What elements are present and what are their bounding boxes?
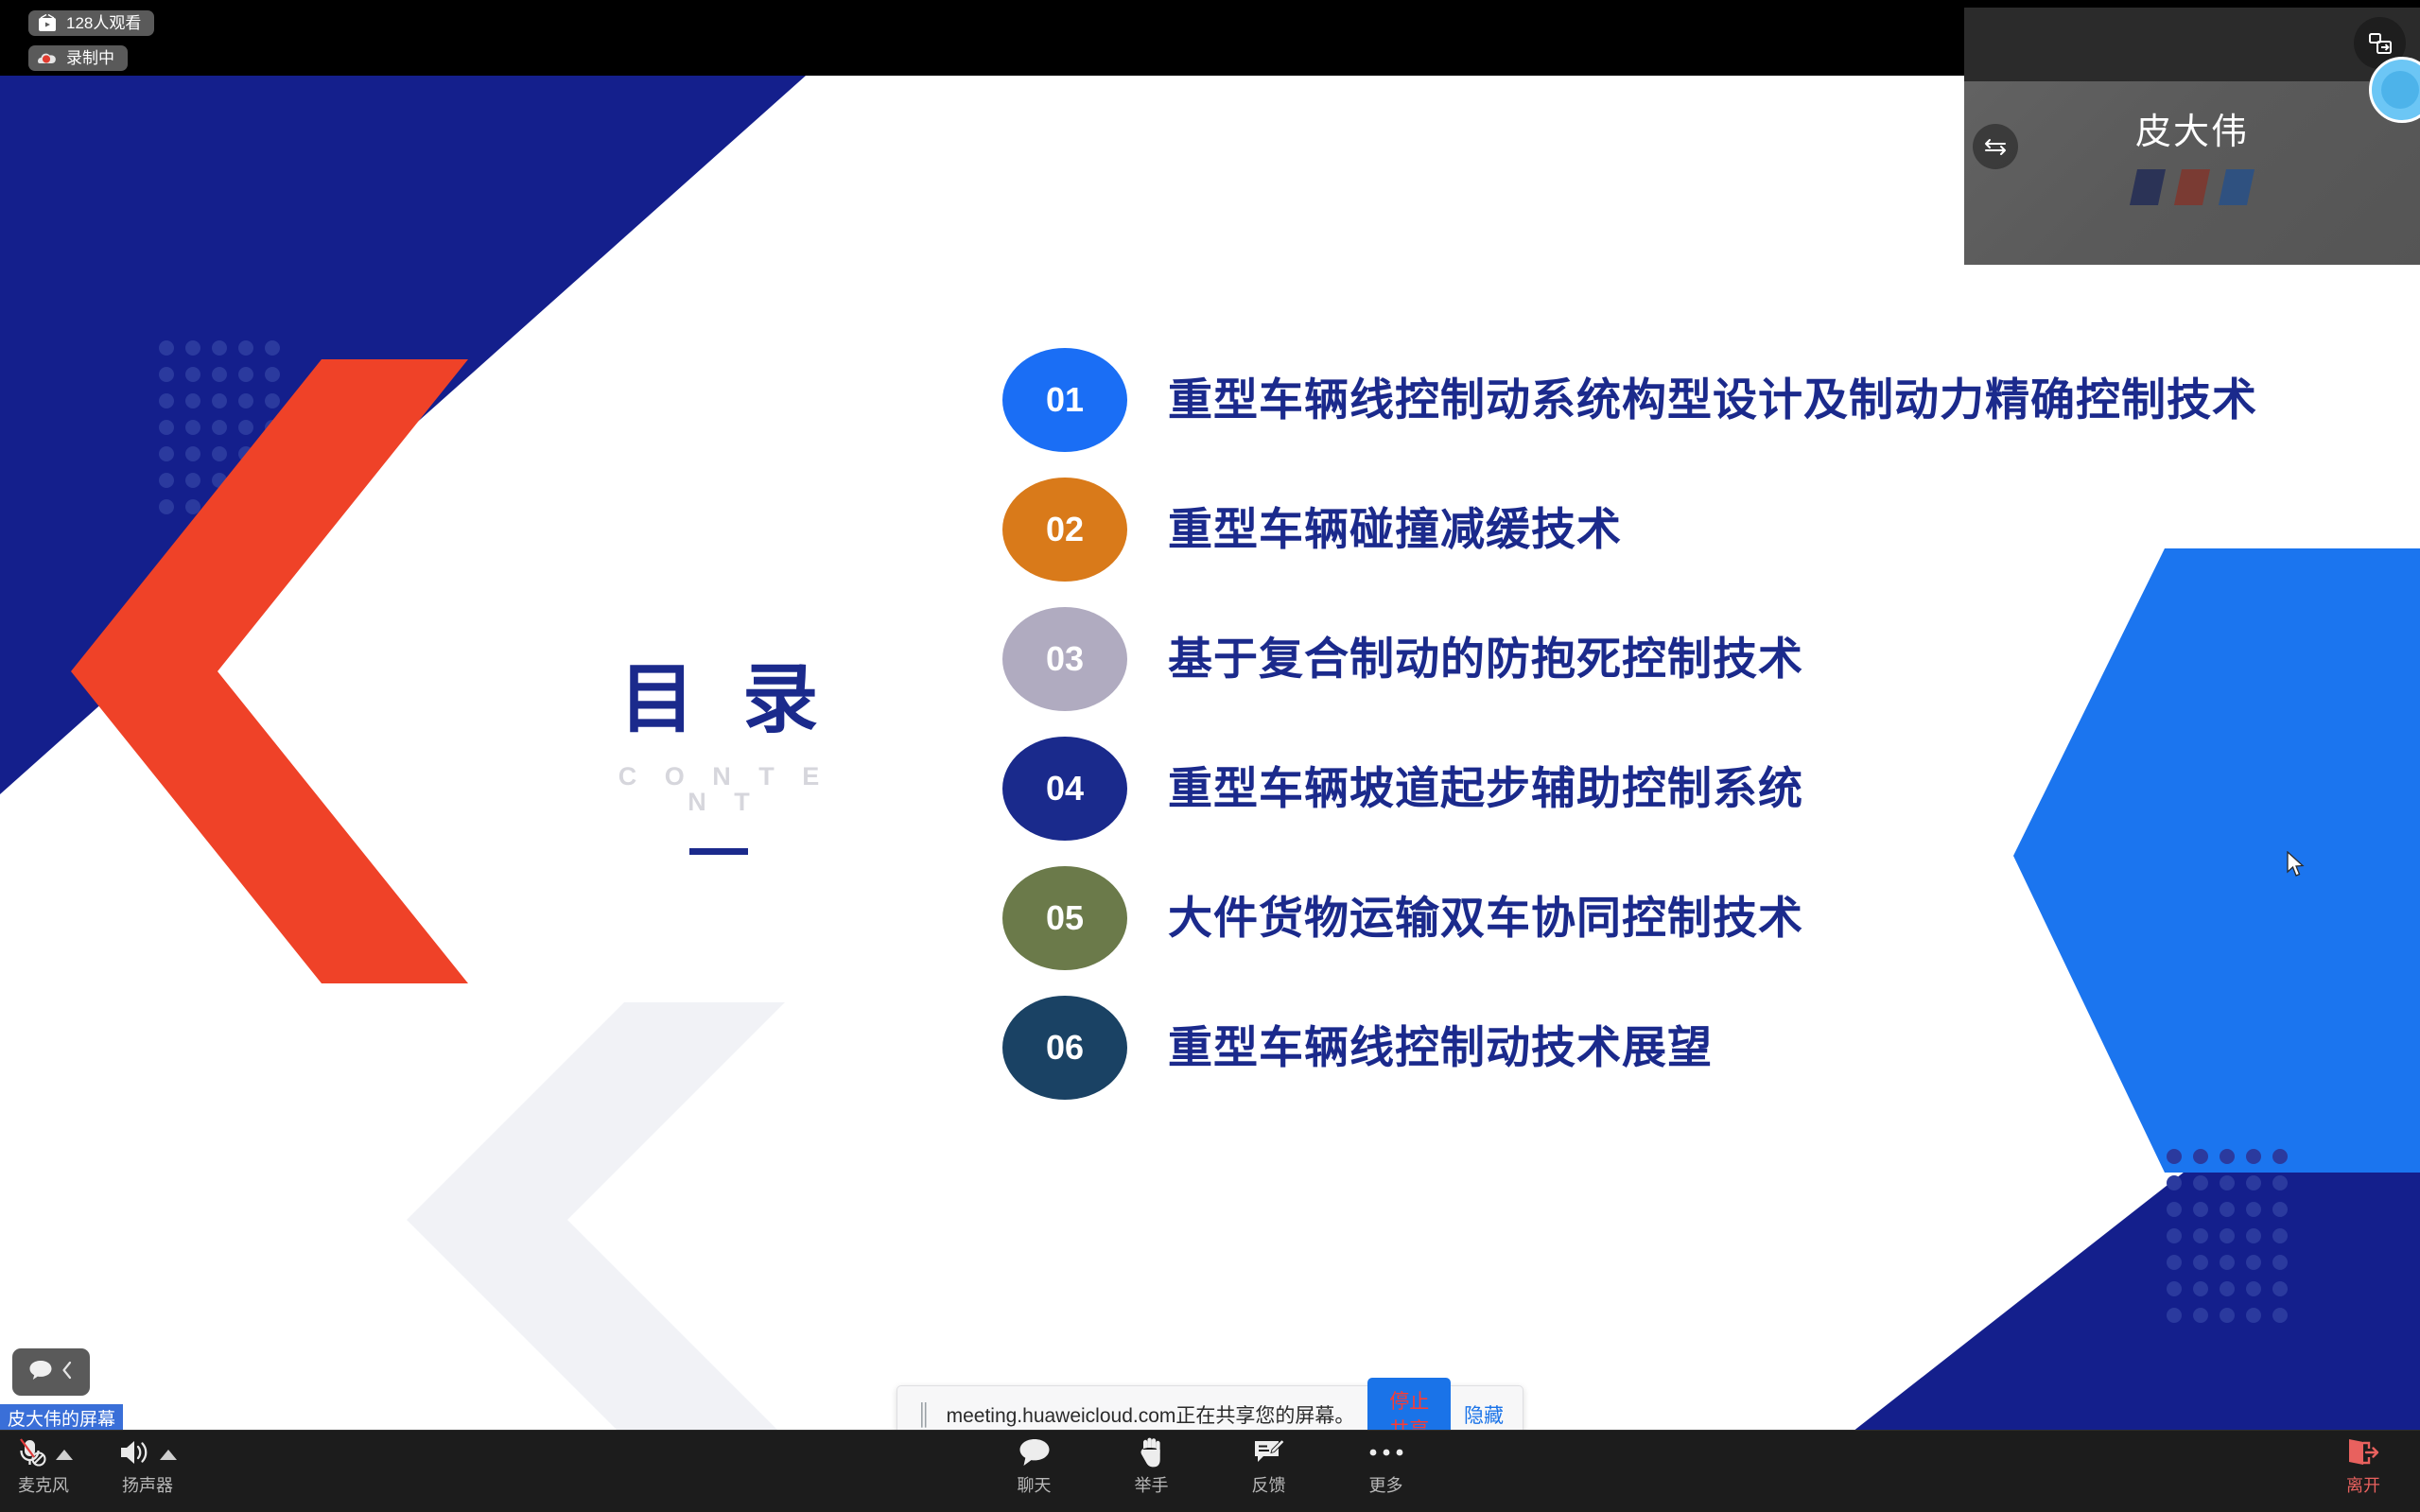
agenda-label: 重型车辆坡道起步辅助控制系统 [1168, 763, 1803, 814]
agenda-number-badge: 01 [1002, 348, 1127, 452]
agenda-item: 02 重型车辆碰撞减缓技术 [1002, 478, 2270, 582]
viewer-count-label: 128人观看 [66, 15, 141, 31]
stop-sharing-button[interactable]: 停止共享 [1367, 1378, 1451, 1432]
shared-screen-tab[interactable]: 皮大伟的屏幕 [0, 1404, 123, 1431]
agenda-label: 基于复合制动的防抱死控制技术 [1168, 634, 1803, 685]
raise-hand-button[interactable]: 举手 [1122, 1434, 1182, 1494]
toolbar-right-group: 离开 [2333, 1434, 2394, 1494]
feedback-button[interactable]: 反馈 [1239, 1434, 1299, 1494]
slide-title-cn: 目 录 [600, 662, 851, 738]
chevron-up-icon[interactable] [56, 1450, 73, 1460]
more-label: 更多 [1369, 1477, 1403, 1494]
chat-label: 聊天 [1018, 1477, 1052, 1494]
title-underline [689, 848, 748, 855]
speaker-button[interactable]: 扬声器 [117, 1434, 178, 1494]
hide-notification-link[interactable]: 隐藏 [1464, 1400, 1504, 1429]
exit-door-icon [2345, 1436, 2381, 1473]
watermark-chevron-shape [407, 1002, 898, 1432]
participant-name: 皮大伟 [1964, 102, 2420, 154]
slide-title-en: C O N T E N T [597, 764, 851, 815]
screen-share-notification: ║ meeting.huaweicloud.com正在共享您的屏幕。 停止共享 … [897, 1385, 1523, 1432]
video-tile-body: 皮大伟 [1964, 81, 2420, 265]
leave-button[interactable]: 离开 [2333, 1434, 2394, 1494]
pause-icon: ║ [916, 1404, 933, 1425]
meeting-toolbar: 麦克风 扬声器 [0, 1430, 2420, 1512]
agenda-number-badge: 03 [1002, 607, 1127, 711]
agenda-number-badge: 02 [1002, 478, 1127, 582]
agenda-item: 03 基于复合制动的防抱死控制技术 [1002, 607, 2270, 711]
agenda-label: 重型车辆碰撞减缓技术 [1168, 504, 1622, 555]
shared-screen-tab-label: 皮大伟的屏幕 [8, 1405, 115, 1431]
record-dot-icon [37, 49, 58, 68]
more-button[interactable]: 更多 [1356, 1434, 1417, 1494]
speaker-icon [118, 1437, 152, 1472]
toolbar-left-group: 麦克风 扬声器 [13, 1434, 178, 1494]
chat-bubble-icon [28, 1359, 54, 1386]
speaker-label: 扬声器 [122, 1477, 173, 1494]
shared-screen-stage: 目 录 C O N T E N T 01 重型车辆线控制动系统构型设计及制动力精… [0, 76, 2420, 1432]
feedback-icon [1252, 1437, 1286, 1472]
ellipsis-icon [1368, 1446, 1404, 1464]
agenda-number-badge: 06 [1002, 996, 1127, 1100]
presentation-slide: 目 录 C O N T E N T 01 重型车辆线控制动系统构型设计及制动力精… [0, 76, 2420, 1432]
dot-grid-bottomright [2167, 1149, 2288, 1323]
share-message: meeting.huaweicloud.com正在共享您的屏幕。 [947, 1400, 1355, 1429]
agenda-number: 02 [1046, 510, 1084, 549]
slide-title-block: 目 录 C O N T E N T [586, 662, 851, 855]
leave-label: 离开 [2346, 1477, 2380, 1494]
agenda-number-badge: 04 [1002, 737, 1127, 841]
agenda-item: 01 重型车辆线控制动系统构型设计及制动力精确控制技术 [1002, 348, 2270, 452]
video-tile-header [1964, 8, 2420, 81]
agenda-label: 大件货物运输双车协同控制技术 [1168, 893, 1803, 944]
agenda-list: 01 重型车辆线控制动系统构型设计及制动力精确控制技术 02 重型车辆碰撞减缓技… [1002, 348, 2270, 1125]
feedback-label: 反馈 [1252, 1477, 1286, 1494]
raise-hand-label: 举手 [1135, 1477, 1169, 1494]
agenda-number: 04 [1046, 769, 1084, 808]
tv-icon [37, 14, 58, 33]
toolbar-center-group: 聊天 举手 [1004, 1434, 1417, 1494]
agenda-item: 06 重型车辆线控制动技术展望 [1002, 996, 2270, 1100]
raised-hand-icon [1136, 1435, 1168, 1474]
agenda-number: 06 [1046, 1028, 1084, 1068]
agenda-item: 05 大件货物运输双车协同控制技术 [1002, 866, 2270, 970]
status-badge-group: 128人观看 录制中 [28, 10, 154, 71]
agenda-number: 05 [1046, 898, 1084, 938]
agenda-number-badge: 05 [1002, 866, 1127, 970]
chat-button[interactable]: 聊天 [1004, 1434, 1065, 1494]
microphone-button[interactable]: 麦克风 [13, 1434, 74, 1494]
microphone-muted-icon [14, 1436, 48, 1473]
agenda-number: 03 [1046, 639, 1084, 679]
agenda-item: 04 重型车辆坡道起步辅助控制系统 [1002, 737, 2270, 841]
meeting-app-root: 128人观看 录制中 [0, 0, 2420, 1512]
chevron-up-icon[interactable] [160, 1450, 177, 1460]
participant-video-tile[interactable]: 皮大伟 [1964, 8, 2420, 265]
status-badge: 128人观看 [28, 10, 154, 36]
status-badge: 录制中 [28, 45, 128, 71]
agenda-label: 重型车辆线控制动技术展望 [1168, 1022, 1713, 1073]
microphone-label: 麦克风 [18, 1477, 69, 1494]
recording-label: 录制中 [66, 50, 114, 66]
chat-floating-widget[interactable] [12, 1348, 90, 1396]
video-decor-bars [2133, 169, 2251, 205]
chevron-left-icon [61, 1360, 74, 1385]
chat-bubble-icon [1018, 1436, 1052, 1473]
agenda-label: 重型车辆线控制动系统构型设计及制动力精确控制技术 [1168, 374, 2257, 426]
agenda-number: 01 [1046, 380, 1084, 420]
